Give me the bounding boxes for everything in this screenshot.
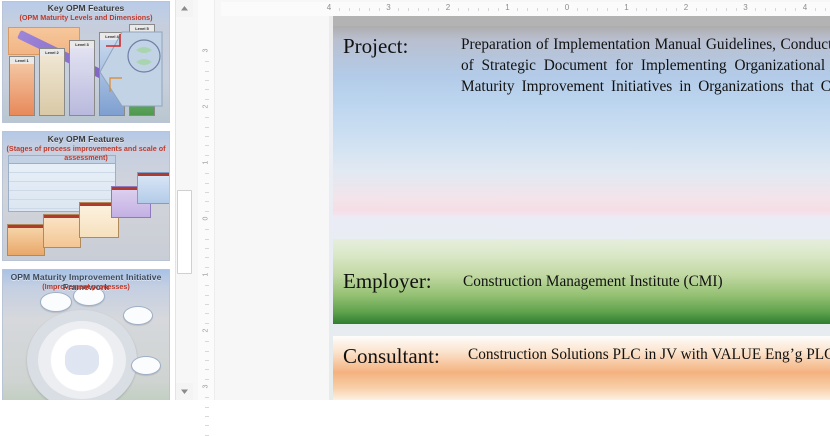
- vruler-tick: [205, 285, 209, 286]
- hruler-label-8: 4: [803, 3, 807, 12]
- scroll-down-arrow-icon: [180, 388, 189, 395]
- thumb1-chevron-diagram-icon: [96, 26, 166, 112]
- vruler-label-1: 2: [203, 99, 210, 115]
- thumb1-level-3-body: [70, 48, 94, 115]
- hruler-tick: [498, 8, 499, 11]
- thumb1-level-1: Level 1: [9, 56, 35, 116]
- thumb2-table-row: [9, 164, 115, 173]
- vruler-tick: [205, 257, 209, 258]
- vruler-tick: [205, 369, 209, 370]
- thumb2-card-accent: [138, 173, 170, 176]
- thumb2-stage-card-0: [7, 224, 45, 256]
- hruler-tick: [795, 8, 796, 11]
- thumb1-level-2-label: Level 2: [40, 49, 64, 56]
- consultant-textbox[interactable]: Consultant: Construction Solutions PLC i…: [333, 336, 830, 400]
- vruler-tick: [205, 145, 209, 146]
- project-value: Preparation of Implementation Manual Gui…: [461, 34, 830, 97]
- vruler-label-5: 2: [203, 323, 210, 339]
- thumb1-level-1-body: [10, 64, 34, 115]
- project-row: Project: Preparation of Implementation M…: [343, 34, 830, 97]
- hruler-label-6: 2: [684, 3, 688, 12]
- vruler-tick: [205, 351, 209, 352]
- vruler-tick: [205, 127, 209, 128]
- hruler-tick: [428, 8, 429, 11]
- project-label: Project:: [343, 34, 461, 59]
- thumb2-stage-card-4: [137, 172, 170, 204]
- vruler-tick: [205, 407, 209, 408]
- consultant-label: Consultant:: [343, 344, 468, 369]
- thumb1-level-2-body: [40, 56, 64, 115]
- vruler-tick: [205, 89, 209, 90]
- hruler-tick: [646, 8, 647, 11]
- hruler-tick: [359, 8, 360, 11]
- vruler-label-6: 3: [203, 379, 210, 395]
- consultant-value: Construction Solutions PLC in JV with VA…: [468, 344, 830, 365]
- vruler-label-4: 1: [203, 267, 210, 283]
- slide-thumbnail-2[interactable]: Key OPM Features (Stages of process impr…: [2, 131, 170, 261]
- hruler-tick: [785, 8, 786, 11]
- vruler-tick: [205, 313, 209, 314]
- scrollbar-thumb[interactable]: [177, 190, 192, 274]
- scroll-down-button[interactable]: [176, 383, 193, 400]
- employer-label: Employer:: [343, 269, 463, 294]
- vruler-tick: [205, 416, 209, 417]
- thumb2-title: Key OPM Features: [3, 134, 169, 144]
- hruler-tick: [775, 8, 776, 11]
- hruler-tick: [478, 8, 479, 11]
- hruler-tick: [666, 8, 667, 11]
- vruler-tick: [205, 61, 209, 62]
- slide-top-band: [333, 16, 830, 26]
- vruler-tick: [205, 117, 209, 118]
- vruler-label-2: 1: [203, 155, 210, 171]
- scroll-up-arrow-icon: [180, 5, 189, 12]
- slide-thumbnail-1[interactable]: Level 1 Level 2 Level 3 Level 4 Level 5: [2, 1, 170, 123]
- thumb1-subtitle: (OPM Maturity Levels and Dimensions): [3, 13, 169, 22]
- horizontal-ruler[interactable]: 432101234: [221, 2, 830, 16]
- scroll-up-button[interactable]: [176, 0, 193, 17]
- thumb3-bubble-3: [123, 306, 153, 325]
- hruler-tick: [696, 8, 697, 11]
- hruler-tick: [458, 8, 459, 11]
- hruler-tick: [537, 8, 538, 11]
- vruler-tick: [205, 360, 209, 361]
- hruler-tick: [755, 8, 756, 11]
- vruler-tick: [205, 295, 209, 296]
- hruler-tick: [547, 8, 548, 11]
- thumb1-level-3: Level 3: [69, 40, 95, 116]
- hruler-tick: [349, 8, 350, 11]
- hruler-tick: [825, 8, 826, 11]
- hruler-tick: [706, 8, 707, 11]
- thumb2-subtitle: (Stages of process improvements and scal…: [3, 144, 169, 162]
- hruler-tick: [398, 8, 399, 11]
- thumbnail-pane-scrollbar[interactable]: [175, 0, 194, 400]
- presentation-editor-window: Level 1 Level 2 Level 3 Level 4 Level 5: [0, 0, 830, 400]
- vruler-tick: [205, 183, 209, 184]
- hruler-tick: [617, 8, 618, 11]
- hruler-tick: [676, 8, 677, 11]
- hruler-label-1: 3: [386, 3, 390, 12]
- hruler-tick: [597, 8, 598, 11]
- vertical-ruler[interactable]: 3210123: [198, 0, 215, 400]
- hruler-label-7: 3: [743, 3, 747, 12]
- hruler-tick: [577, 8, 578, 11]
- thumb2-stage-card-1: [43, 214, 81, 248]
- vruler-tick: [205, 201, 209, 202]
- hruler-tick: [607, 8, 608, 11]
- vruler-tick: [205, 136, 209, 137]
- employer-value: Construction Management Institute (CMI): [463, 271, 830, 292]
- vruler-tick: [205, 192, 209, 193]
- thumb1-level-1-label: Level 1: [10, 57, 34, 64]
- vruler-label-3: 0: [203, 211, 210, 227]
- thumb2-table-row: [9, 191, 115, 200]
- hruler-tick: [379, 8, 380, 11]
- thumb3-subtitle: (Improvement processes): [3, 282, 169, 291]
- vruler-tick: [205, 239, 209, 240]
- hruler-tick: [726, 8, 727, 11]
- consultant-row: Consultant: Construction Solutions PLC i…: [343, 344, 830, 369]
- vruler-tick: [205, 397, 209, 398]
- thumb3-bubble-1: [40, 292, 72, 312]
- thumb2-table-row: [9, 173, 115, 182]
- hruler-tick: [468, 8, 469, 11]
- hruler-label-0: 4: [327, 3, 331, 12]
- thumb2-table-row: [9, 182, 115, 191]
- hruler-tick: [815, 8, 816, 11]
- hruler-label-2: 2: [446, 3, 450, 12]
- thumb1-level-3-label: Level 3: [70, 41, 94, 48]
- vruler-label-0: 3: [203, 43, 210, 59]
- hruler-tick: [587, 8, 588, 11]
- slide-thumbnail-3[interactable]: OPM Maturity Improvement Initiative Fram…: [2, 269, 170, 400]
- hruler-label-4: 0: [565, 3, 569, 12]
- vruler-tick: [205, 229, 209, 230]
- hruler-tick: [557, 8, 558, 11]
- thumb2-card-accent: [44, 215, 80, 218]
- hruler-label-5: 1: [624, 3, 628, 12]
- hruler-label-3: 1: [505, 3, 509, 12]
- employer-row: Employer: Construction Management Instit…: [343, 269, 830, 294]
- vruler-tick: [205, 248, 209, 249]
- slide-canvas[interactable]: Project: Preparation of Implementation M…: [329, 16, 830, 400]
- thumb2-card-accent: [8, 225, 44, 228]
- thumb1-title: Key OPM Features: [3, 3, 169, 13]
- hruler-tick: [716, 8, 717, 11]
- hruler-tick: [656, 8, 657, 11]
- slide-editing-workspace[interactable]: 3210123 432101234 Project: Preparation o…: [193, 0, 830, 400]
- project-textbox[interactable]: Project: Preparation of Implementation M…: [333, 26, 830, 218]
- thumb3-bubble-4: [131, 356, 161, 375]
- hruler-tick: [765, 8, 766, 11]
- hruler-tick: [517, 8, 518, 11]
- hruler-tick: [438, 8, 439, 11]
- hruler-tick: [527, 8, 528, 11]
- hruler-tick: [488, 8, 489, 11]
- thumb3-process-ring: [27, 310, 137, 400]
- thumb1-level-2: Level 2: [39, 48, 65, 116]
- hruler-tick: [736, 8, 737, 11]
- vruler-tick: [205, 80, 209, 81]
- vruler-tick: [205, 304, 209, 305]
- vruler-tick: [205, 71, 209, 72]
- hruler-tick: [339, 8, 340, 11]
- hruler-tick: [369, 8, 370, 11]
- vruler-tick: [205, 425, 209, 426]
- hruler-tick: [636, 8, 637, 11]
- vruler-tick: [205, 173, 209, 174]
- employer-textbox[interactable]: Employer: Construction Management Instit…: [333, 239, 830, 324]
- hruler-tick: [418, 8, 419, 11]
- hruler-tick: [408, 8, 409, 11]
- slide-thumbnail-pane[interactable]: Level 1 Level 2 Level 3 Level 4 Level 5: [0, 0, 172, 400]
- vruler-tick: [205, 341, 209, 342]
